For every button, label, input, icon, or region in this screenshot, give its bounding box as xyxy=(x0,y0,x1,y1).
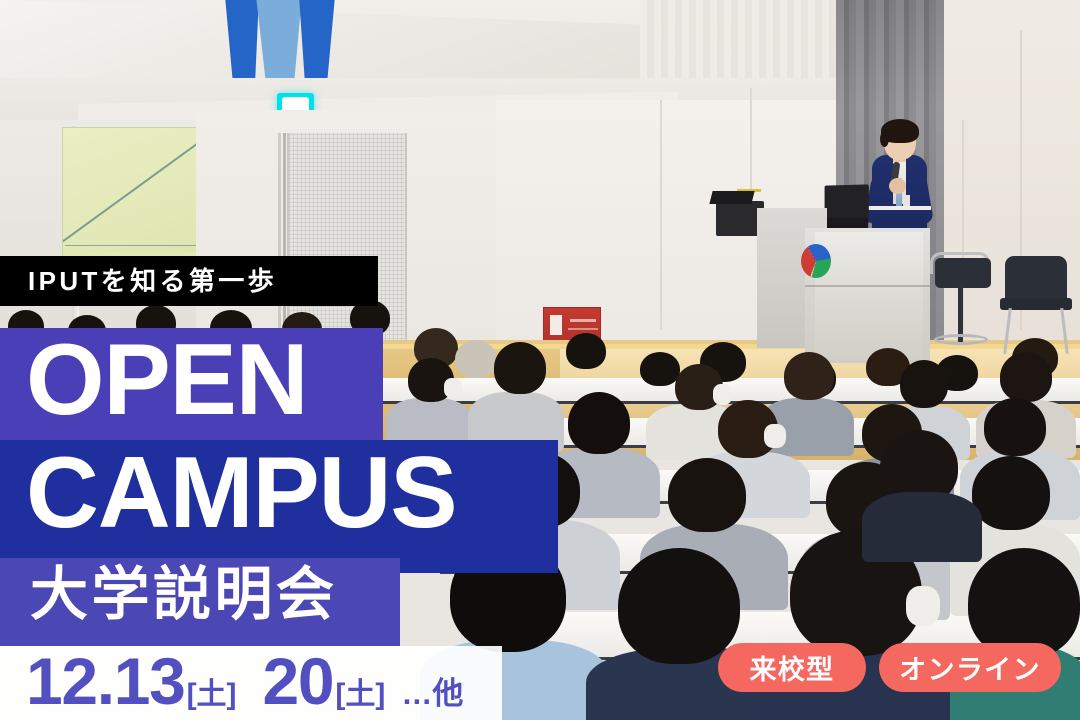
subtitle-text: 大学説明会 xyxy=(30,566,337,624)
kicker-text: IPUTを知る第一歩 xyxy=(0,268,277,294)
presenter-badge xyxy=(903,195,910,206)
date-more-label: …他 xyxy=(401,678,463,709)
status-badge-online[interactable]: オンライン xyxy=(879,643,1061,692)
open-campus-poster: IPUTを知る第一歩 OPEN CAMPUS 大学説明会 12.13 [土] 2… xyxy=(0,0,1080,720)
podium-seam xyxy=(805,285,930,287)
title-line-1: OPEN xyxy=(26,330,566,431)
presenter-hand xyxy=(889,178,906,194)
university-logo-icon xyxy=(801,244,831,278)
date-2-weekday: [土] xyxy=(335,680,385,710)
far-wall xyxy=(944,0,1080,370)
wall-seam xyxy=(660,100,662,330)
date-2-number: 20 xyxy=(263,648,334,714)
date-1-weekday: [土] xyxy=(187,680,237,710)
stage-chair xyxy=(1005,256,1067,304)
event-dates: 12.13 [土] 20 [土] …他 xyxy=(26,648,463,714)
kicker-banner: IPUTを知る第一歩 xyxy=(0,256,378,306)
date-1-number: 12.13 xyxy=(26,648,185,714)
title-line-2: CAMPUS xyxy=(26,443,726,544)
stage-stool-base xyxy=(934,334,988,345)
ceiling-banner-icon xyxy=(225,0,335,84)
status-badge-onsite[interactable]: 来校型 xyxy=(718,643,866,692)
presenter-hair xyxy=(880,131,889,147)
stage-stool xyxy=(935,258,991,288)
format-badges: 来校型 オンライン xyxy=(718,643,1061,692)
podium-front xyxy=(815,232,923,360)
